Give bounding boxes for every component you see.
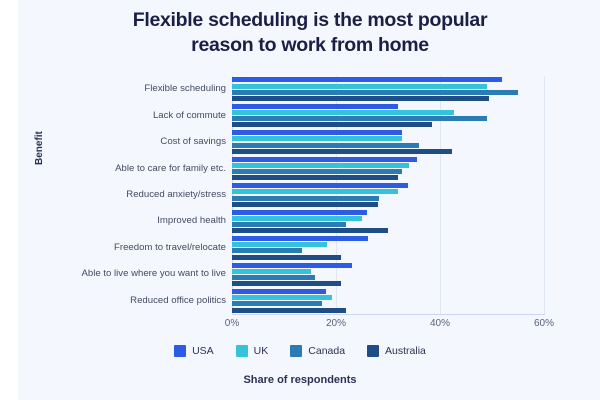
x-axis-title: Share of respondents <box>0 374 600 386</box>
bar-australia[interactable] <box>232 281 341 286</box>
bar-canada[interactable] <box>232 222 346 227</box>
legend-item-canada[interactable]: Canada <box>290 345 345 357</box>
x-axis-line <box>232 314 545 315</box>
legend-swatch-icon <box>367 345 379 357</box>
legend-label: UK <box>254 345 269 357</box>
bar-uk[interactable] <box>232 110 454 115</box>
bar-group <box>232 289 544 313</box>
y-tick-label: Flexible scheduling <box>26 83 226 94</box>
chart-title-line-1: Flexible scheduling is the most popular <box>60 8 560 33</box>
bar-usa[interactable] <box>232 183 408 188</box>
bar-group <box>232 263 544 287</box>
bar-uk[interactable] <box>232 163 409 168</box>
legend-swatch-icon <box>236 345 248 357</box>
bar-usa[interactable] <box>232 263 352 268</box>
bar-australia[interactable] <box>232 96 489 101</box>
bar-australia[interactable] <box>232 122 432 127</box>
bar-australia[interactable] <box>232 149 452 154</box>
bar-usa[interactable] <box>232 236 368 241</box>
bar-uk[interactable] <box>232 189 398 194</box>
bar-canada[interactable] <box>232 90 518 95</box>
bar-canada[interactable] <box>232 275 315 280</box>
x-tick-label: 60% <box>534 318 554 329</box>
bar-australia[interactable] <box>232 255 341 260</box>
bar-canada[interactable] <box>232 169 402 174</box>
chart-card: Flexible scheduling is the most popular … <box>0 0 600 400</box>
bar-group <box>232 130 544 154</box>
y-tick-label: Lack of commute <box>26 110 226 121</box>
y-tick-label: Able to care for family etc. <box>26 163 226 174</box>
chart-legend: USAUKCanadaAustralia <box>0 345 600 357</box>
bar-uk[interactable] <box>232 242 327 247</box>
legend-swatch-icon <box>290 345 302 357</box>
bar-australia[interactable] <box>232 175 398 180</box>
chart-title: Flexible scheduling is the most popular … <box>60 8 560 58</box>
x-tick-label: 0% <box>225 318 239 329</box>
bar-australia[interactable] <box>232 202 378 207</box>
legend-label: Canada <box>308 345 345 357</box>
bar-usa[interactable] <box>232 210 367 215</box>
bar-usa[interactable] <box>232 130 402 135</box>
page-left-margin <box>0 0 18 400</box>
legend-label: USA <box>192 345 214 357</box>
legend-swatch-icon <box>174 345 186 357</box>
y-tick-label: Reduced anxiety/stress <box>26 189 226 200</box>
legend-label: Australia <box>385 345 426 357</box>
bar-usa[interactable] <box>232 157 417 162</box>
bar-group <box>232 210 544 234</box>
x-tick-label: 40% <box>430 318 450 329</box>
legend-item-australia[interactable]: Australia <box>367 345 426 357</box>
legend-item-usa[interactable]: USA <box>174 345 214 357</box>
bar-uk[interactable] <box>232 295 332 300</box>
bar-canada[interactable] <box>232 196 379 201</box>
bar-uk[interactable] <box>232 136 402 141</box>
bar-group <box>232 183 544 207</box>
y-axis-tick-labels: Flexible schedulingLack of commuteCost o… <box>20 76 226 314</box>
bar-usa[interactable] <box>232 77 502 82</box>
bar-australia[interactable] <box>232 308 346 313</box>
bar-group <box>232 104 544 128</box>
bar-usa[interactable] <box>232 289 326 294</box>
gridline-60% <box>544 76 545 314</box>
legend-item-uk[interactable]: UK <box>236 345 269 357</box>
y-tick-label: Improved health <box>26 215 226 226</box>
bar-canada[interactable] <box>232 116 487 121</box>
bar-uk[interactable] <box>232 216 362 221</box>
bar-uk[interactable] <box>232 269 311 274</box>
bar-canada[interactable] <box>232 143 419 148</box>
bar-group <box>232 157 544 181</box>
bar-australia[interactable] <box>232 228 388 233</box>
x-tick-label: 20% <box>326 318 346 329</box>
bar-group <box>232 236 544 260</box>
y-tick-label: Cost of savings <box>26 136 226 147</box>
plot-area <box>232 76 544 314</box>
y-tick-label: Able to live where you want to live <box>26 268 226 279</box>
y-tick-label: Freedom to travel/relocate <box>26 242 226 253</box>
chart-title-line-2: reason to work from home <box>60 33 560 58</box>
bar-canada[interactable] <box>232 248 302 253</box>
bar-group <box>232 77 544 101</box>
bar-usa[interactable] <box>232 104 398 109</box>
y-tick-label: Reduced office politics <box>26 295 226 306</box>
bar-uk[interactable] <box>232 84 487 89</box>
bar-canada[interactable] <box>232 301 322 306</box>
